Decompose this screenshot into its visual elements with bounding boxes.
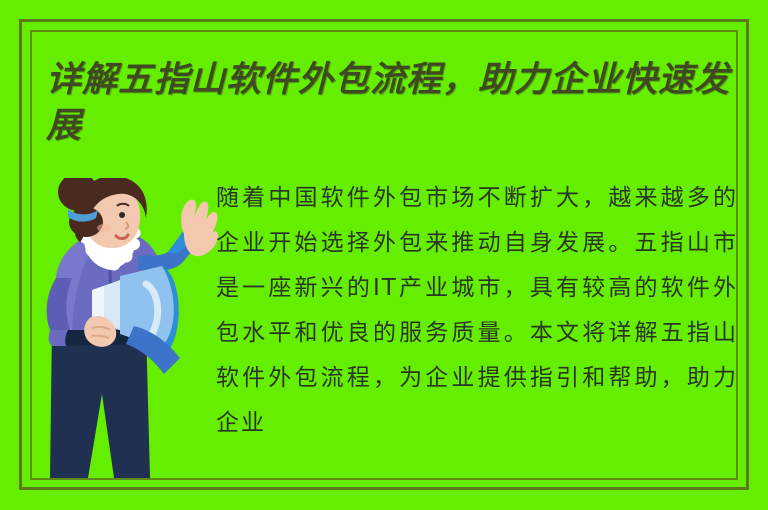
left-cuff-shape	[49, 330, 68, 346]
illustration-woman-with-megaphone	[34, 178, 224, 498]
poster-title: 详解五指山软件外包流程，助力企业快速发展	[46, 57, 736, 149]
poster-body-text: 随着中国软件外包市场不断扩大，越来越多的企业开始选择外包来推动自身发展。五指山市…	[216, 176, 738, 446]
poster-canvas: 详解五指山软件外包流程，助力企业快速发展	[0, 0, 768, 510]
pants-shape	[50, 326, 150, 478]
